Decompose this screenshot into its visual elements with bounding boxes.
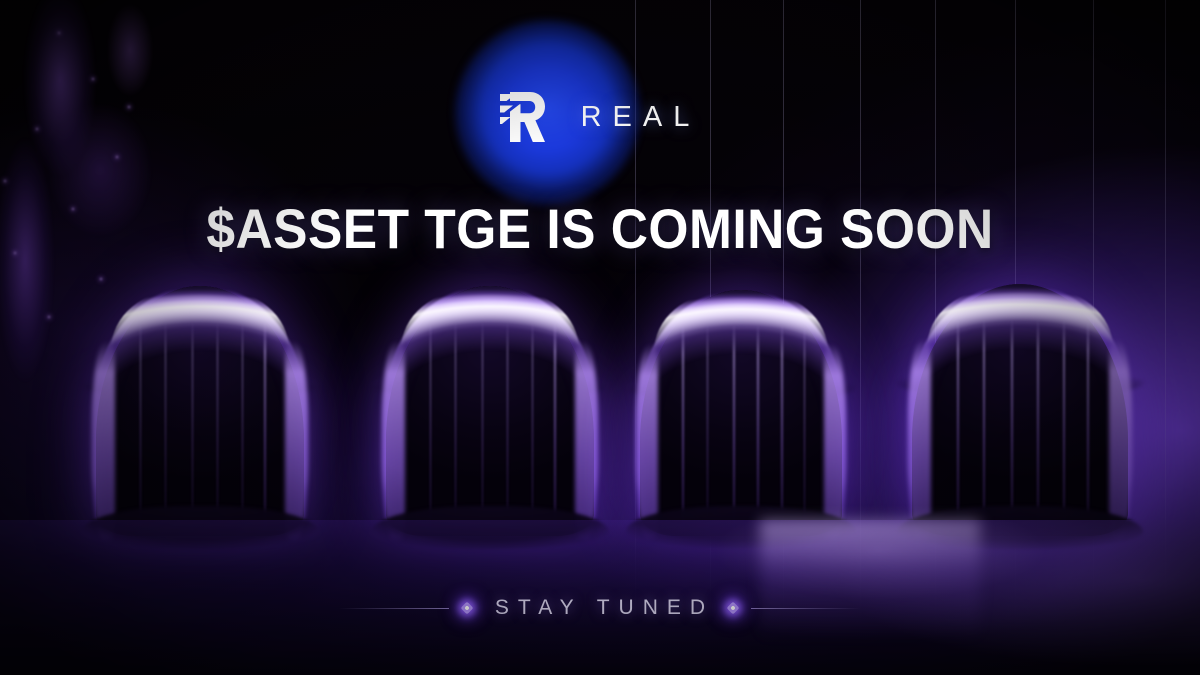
floor-light-sheen — [760, 520, 980, 640]
draped-object — [640, 290, 842, 536]
shroud-folds — [912, 319, 1128, 536]
promo-banner: REAL $ASSET TGE IS COMING SOON STAY TUNE… — [0, 0, 1200, 675]
divider-line-left — [339, 608, 449, 609]
tagline: STAY TUNED — [486, 596, 714, 620]
shroud-folds — [386, 321, 594, 536]
divider-line-right — [751, 608, 861, 609]
draped-object — [912, 284, 1128, 536]
sparkle-icon — [728, 604, 737, 613]
shroud-folds — [640, 324, 842, 536]
page-title: $ASSET TGE IS COMING SOON — [48, 196, 1152, 261]
draped-object — [96, 286, 304, 536]
stay-tuned-strip: STAY TUNED — [0, 596, 1200, 620]
brand-logo-lockup[interactable]: REAL — [0, 92, 1200, 142]
sparkle-icon — [463, 604, 472, 613]
shroud-floor-pool — [371, 506, 608, 549]
shroud-folds — [96, 321, 304, 536]
brand-wordmark: REAL — [570, 101, 701, 134]
shroud-floor-pool — [81, 506, 318, 549]
draped-object — [386, 286, 594, 536]
real-r-monogram-icon — [500, 92, 546, 142]
